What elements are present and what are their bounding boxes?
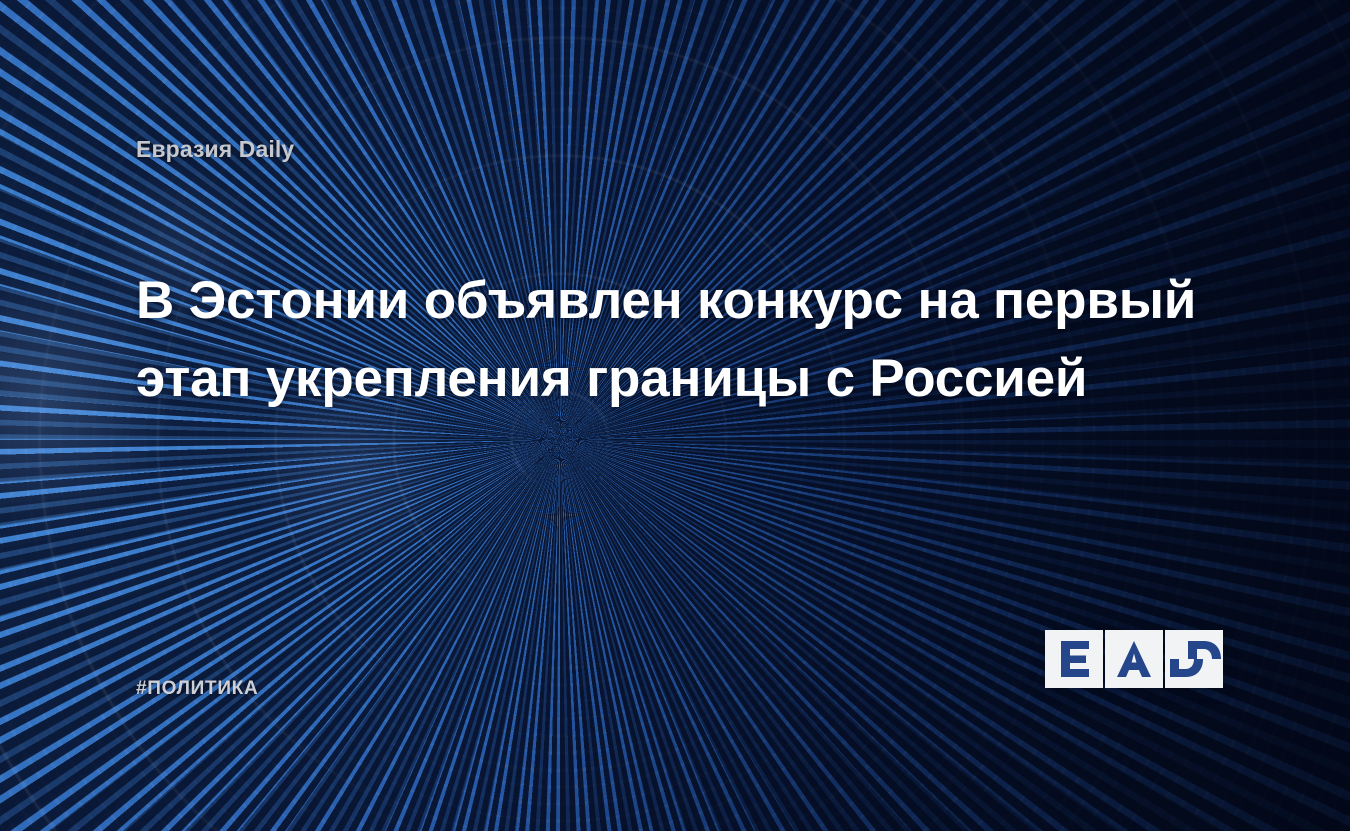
brand-name: Евразия Daily	[136, 136, 294, 163]
page-title: В Эстонии объявлен конкурс на первый эта…	[136, 262, 1246, 418]
ead-logo	[1045, 630, 1223, 688]
category-hashtag[interactable]: #ПОЛИТИКА	[136, 678, 258, 700]
card-content: Евразия Daily В Эстонии объявлен конкурс…	[0, 0, 1350, 831]
logo-tile-a	[1105, 630, 1163, 688]
letter-a-icon	[1105, 630, 1163, 688]
letter-e-icon	[1045, 630, 1103, 688]
headline-line-1: В Эстонии объявлен конкурс на первый	[136, 262, 1246, 340]
news-share-card: Евразия Daily В Эстонии объявлен конкурс…	[0, 0, 1350, 831]
headline-line-2: этап укрепления границы с Россией	[136, 340, 1246, 418]
letter-d-icon-bottom-half	[1165, 659, 1223, 688]
logo-tile-e	[1045, 630, 1103, 688]
logo-tile-d	[1165, 630, 1223, 688]
